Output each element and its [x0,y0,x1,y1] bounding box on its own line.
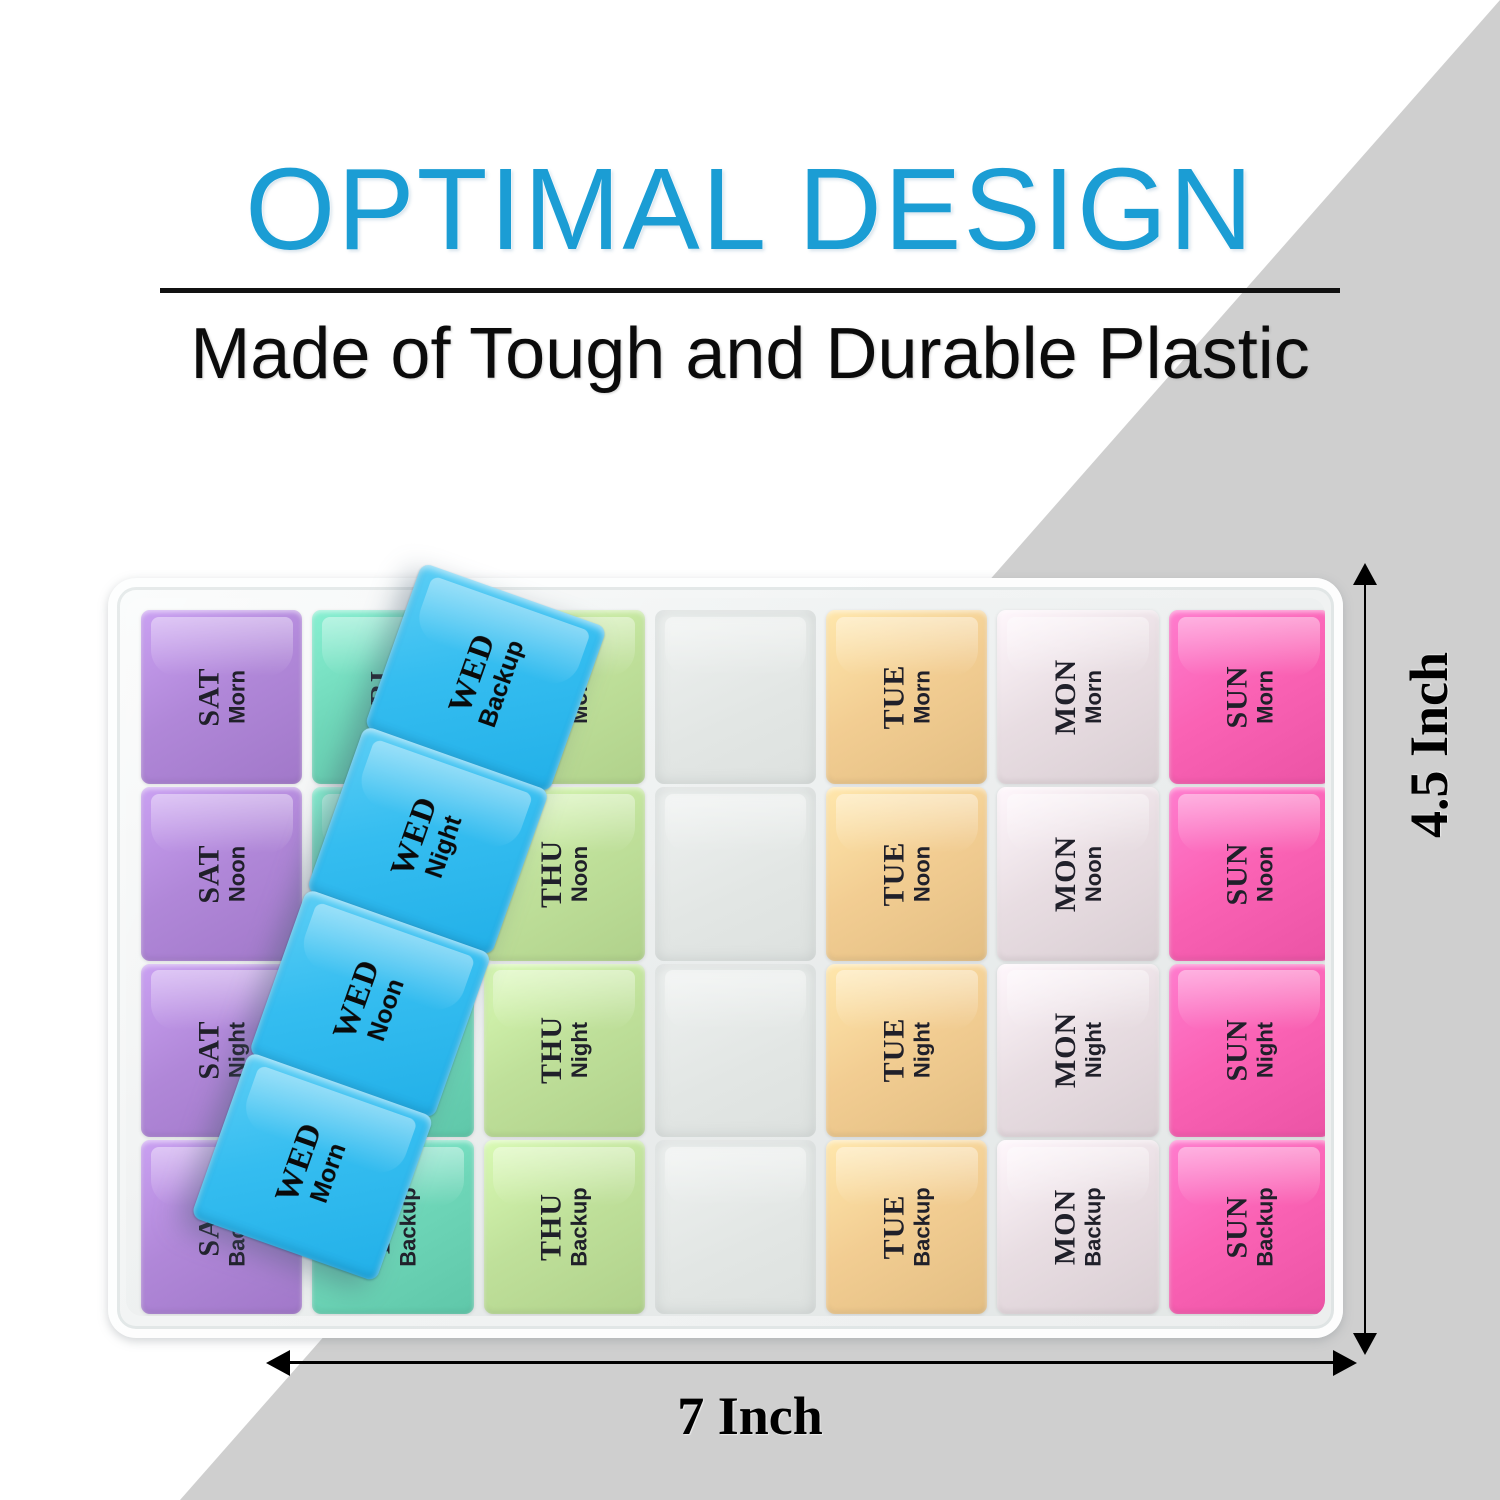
slot-day-text: MON [1051,835,1081,911]
compartment-wed-noon[interactable]: WEDNoon [655,787,816,961]
slot-day-text: SAT [195,667,225,726]
day-column-tue: TUEMornTUENoonTUENightTUEBackup [821,606,992,1316]
day-column-sun: SUNMornSUNNoonSUNNightSUNBackup [1164,606,1325,1316]
slot-label: SUNNoon [1222,842,1276,905]
compartment-wed-backup[interactable]: WEDBackup [655,1140,816,1314]
day-column-wed: WEDMornWEDNoonWEDNightWEDBackup [650,606,821,1316]
compartment-sun-noon[interactable]: SUNNoon [1169,787,1325,961]
slot-time-text: Backup [569,1187,591,1266]
compartment-wed-morn[interactable]: WEDMorn [655,610,816,784]
compartment-thu-backup[interactable]: THUBackup [484,1140,645,1314]
compartment-mon-backup[interactable]: MONBackup [997,1140,1158,1314]
slot-label: TUENoon [880,841,934,906]
compartment-tue-morn[interactable]: TUEMorn [826,610,987,784]
compartment-tue-backup[interactable]: TUEBackup [826,1140,987,1314]
slot-label: WEDMorn [270,1118,354,1215]
compartment-sun-backup[interactable]: SUNBackup [1169,1140,1325,1314]
slot-label: TUEMorn [880,665,934,730]
slot-time-text: Morn [1083,670,1105,724]
slot-label: WEDNoon [328,955,412,1052]
slot-time-text: Noon [912,846,934,902]
slot-label: SUNNight [1222,1019,1276,1082]
compartment-mon-night[interactable]: MONNight [997,964,1158,1138]
slot-time-text: Backup [912,1187,934,1266]
headline-divider [160,288,1340,293]
slot-day-text: SUN [1222,665,1252,728]
slot-label: SATNight [195,1021,249,1080]
slot-time-text: Noon [227,846,249,902]
day-column-mon: MONMornMONNoonMONNightMONBackup [992,606,1163,1316]
slot-time-text: Noon [1083,846,1105,902]
slot-label: SATMorn [195,667,249,726]
compartment-wed-night[interactable]: WEDNight [655,964,816,1138]
slot-day-text: MON [1051,1189,1081,1265]
slot-label: SUNMorn [1222,665,1276,728]
slot-time-text: Backup [1083,1187,1105,1266]
slot-time-text: Night [1083,1022,1105,1078]
page-title: OPTIMAL DESIGN [0,150,1500,268]
slot-day-text: TUE [880,1195,910,1260]
page-subtitle: Made of Tough and Durable Plastic [0,313,1500,395]
slot-time-text: Backup [1254,1187,1276,1266]
height-dimension-label: 4.5 Inch [1398,652,1460,838]
slot-day-text: MON [1051,659,1081,735]
compartment-thu-night[interactable]: THUNight [484,964,645,1138]
slot-label: MONNoon [1051,835,1105,911]
slot-day-text: TUE [880,1018,910,1083]
compartment-sat-noon[interactable]: SATNoon [141,787,302,961]
slot-label: THUNoon [537,840,591,908]
slot-time-text: Noon [569,846,591,902]
slot-day-text: TUE [880,841,910,906]
slot-label: MONBackup [1051,1187,1105,1266]
width-dimension-line [288,1361,1335,1364]
slot-time-text: Night [1254,1022,1276,1078]
slot-label: WEDBackup [442,625,529,730]
width-dimension-label: 7 Inch [0,1385,1500,1447]
slot-label: THUNight [537,1016,591,1084]
slot-label: MONNight [1051,1012,1105,1088]
slot-day-text: THU [537,840,567,908]
compartment-sun-morn[interactable]: SUNMorn [1169,610,1325,784]
slot-day-text: TUE [880,665,910,730]
compartment-mon-noon[interactable]: MONNoon [997,787,1158,961]
slot-label: SATNoon [195,844,249,903]
compartment-sat-morn[interactable]: SATMorn [141,610,302,784]
slot-time-text: Night [912,1022,934,1078]
slot-label: WEDNight [386,792,470,889]
slot-time-text: Morn [227,670,249,724]
slot-day-text: MON [1051,1012,1081,1088]
slot-label: TUEBackup [880,1187,934,1266]
height-dimension-line [1364,583,1366,1335]
slot-label: TUENight [880,1018,934,1083]
compartment-mon-morn[interactable]: MONMorn [997,610,1158,784]
slot-day-text: SAT [195,1021,225,1080]
arrow-up-icon [1353,563,1377,585]
compartment-tue-noon[interactable]: TUENoon [826,787,987,961]
headline-block: OPTIMAL DESIGN Made of Tough and Durable… [0,150,1500,395]
slot-label: SUNBackup [1222,1187,1276,1266]
slot-time-text: Noon [1254,846,1276,902]
compartment-tue-night[interactable]: TUENight [826,964,987,1138]
slot-day-text: THU [537,1016,567,1084]
arrow-left-icon [266,1350,290,1376]
slot-day-text: SUN [1222,842,1252,905]
slot-day-text: SAT [195,844,225,903]
slot-time-text: Morn [1254,670,1276,724]
slot-label: MONMorn [1051,659,1105,735]
slot-day-text: SUN [1222,1196,1252,1259]
compartment-sun-night[interactable]: SUNNight [1169,964,1325,1138]
slot-day-text: THU [537,1193,567,1261]
arrow-right-icon [1333,1350,1357,1376]
slot-time-text: Morn [912,670,934,724]
slot-time-text: Night [569,1022,591,1078]
slot-day-text: SUN [1222,1019,1252,1082]
slot-label: THUBackup [537,1187,591,1266]
